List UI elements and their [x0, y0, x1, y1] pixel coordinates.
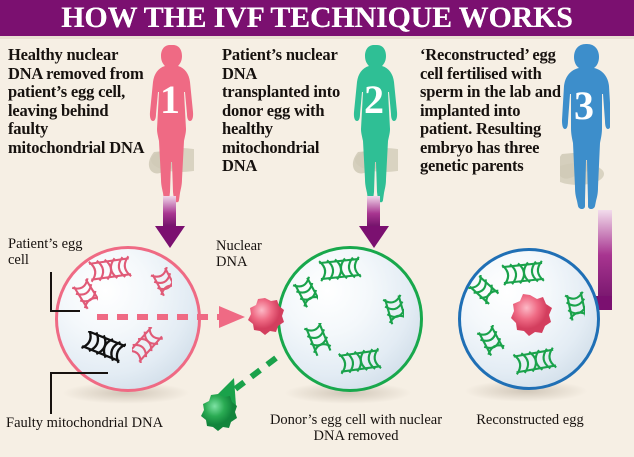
step-2-number: 2: [354, 80, 394, 120]
figure-1-female-silhouette: 1: [148, 42, 194, 212]
step-3-text: ‘Reconstructed’ egg cell fertilised with…: [420, 46, 566, 176]
dna-helix-icon: [284, 275, 318, 321]
purple-arrow-step-1: [152, 196, 188, 250]
step-3-number: 3: [564, 86, 604, 126]
dna-helix-icon: [142, 265, 172, 309]
dna-helix-icon: [467, 325, 505, 371]
ivf-infographic: HOW THE IVF TECHNIQUE WORKS Healthy nucl…: [0, 0, 634, 457]
dna-helix-icon: [292, 323, 332, 367]
label-faulty-mitochondrial-dna: Faulty mitochondrial DNA: [6, 415, 216, 431]
dna-helix-faulty-icon: [80, 331, 126, 365]
label-nuclear-dna: Nuclear DNA: [216, 238, 286, 270]
dna-helix-icon: [553, 285, 585, 333]
step-2-text: Patient’s nuclear DNA transplanted into …: [222, 46, 346, 176]
dna-helix-icon: [372, 289, 404, 337]
page-title: HOW THE IVF TECHNIQUE WORKS: [0, 0, 634, 36]
step-1-text: Healthy nuclear DNA removed from patient…: [8, 46, 148, 157]
dna-helix-icon: [64, 277, 98, 323]
leader-line-patient-egg: [50, 272, 52, 312]
dna-helix-icon: [511, 347, 559, 377]
purple-arrow-step-2: [356, 196, 392, 250]
label-patient-egg-cell: Patient’s egg cell: [8, 236, 100, 268]
donor-egg-cell: [277, 246, 423, 392]
dna-helix-icon: [316, 255, 364, 283]
nuclear-dna-blob-icon: [505, 293, 555, 343]
dna-helix-icon: [499, 259, 547, 287]
leader-line-patient-egg-arm: [50, 310, 80, 312]
label-reconstructed-egg: Reconstructed egg: [470, 412, 590, 428]
header-divider: [0, 36, 634, 39]
dna-helix-icon: [336, 347, 384, 377]
figure-2-female-silhouette: 2: [352, 42, 398, 212]
figure-3-male-silhouette: 3: [560, 42, 610, 220]
nuclear-dna-transfer-arrow: [95, 305, 247, 329]
dna-helix-icon: [463, 275, 499, 321]
label-donor-egg-cell: Donor’s egg cell with nuclear DNA remove…: [266, 412, 446, 444]
transferred-nuclear-dna-blob-icon: [243, 296, 287, 340]
dna-helix-icon: [132, 327, 172, 371]
leader-line-faulty-mito-arm: [50, 372, 108, 374]
leader-line-faulty-mito: [50, 372, 52, 414]
step-1-number: 1: [150, 80, 190, 120]
reconstructed-egg-cell: [458, 248, 600, 390]
